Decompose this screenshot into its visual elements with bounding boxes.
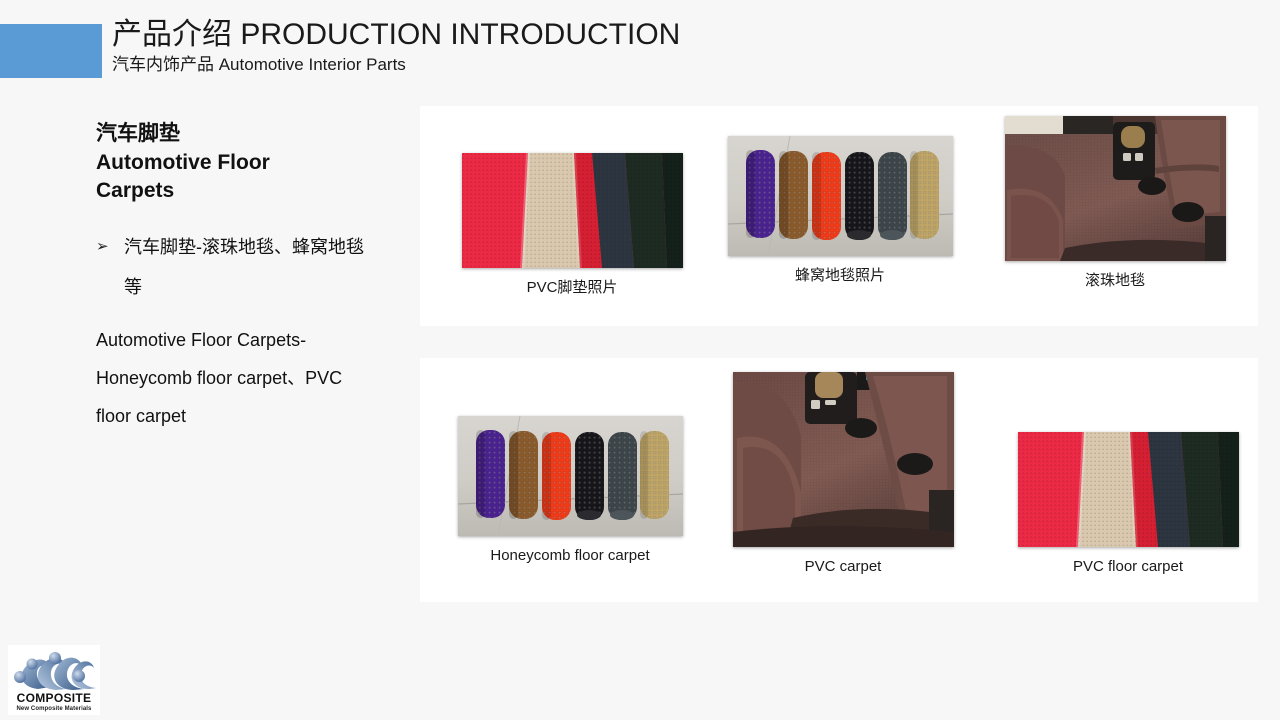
gallery-item[interactable]: PVC carpet [712, 372, 974, 577]
bullet-list-item: ➢ 汽车脚垫-滚珠地毯、蜂窝地毯等 [96, 227, 396, 307]
gallery-item[interactable]: 滚珠地毯 [985, 116, 1245, 291]
page-subtitle: 汽车内饰产品 Automotive Interior Parts [112, 54, 680, 76]
logo-company-name: COMPOSITE [8, 692, 100, 705]
logo-tagline: New Composite Materials [8, 705, 100, 713]
product-photo-honeycomb-rolls-2[interactable] [458, 416, 683, 536]
gallery-item-caption: PVC carpet [712, 557, 974, 577]
page-title: 产品介绍 PRODUCTION INTRODUCTION [112, 16, 680, 54]
gallery-item-caption: Honeycomb floor carpet [438, 546, 702, 566]
slide-header: 产品介绍 PRODUCTION INTRODUCTION 汽车内饰产品 Auto… [0, 0, 1280, 88]
left-text-column: 汽车脚垫 Automotive Floor Carpets ➢ 汽车脚垫-滚珠地… [96, 120, 396, 435]
product-photo-car-interior-pvc-carpet[interactable] [733, 372, 954, 547]
gallery-item-caption: 滚珠地毯 [985, 271, 1245, 291]
arrow-bullet-icon: ➢ [96, 227, 124, 267]
section-heading-english: Automotive Floor Carpets [96, 149, 326, 205]
gallery-item-caption: PVC脚垫照片 [442, 278, 702, 298]
product-photo-pvc-sheets[interactable] [462, 153, 683, 268]
body-paragraph: Automotive Floor Carpets-Honeycomb floor… [96, 321, 376, 435]
section-heading-chinese: 汽车脚垫 [96, 120, 396, 148]
header-accent-bar [0, 24, 102, 78]
gallery-item[interactable]: PVC脚垫照片 [442, 153, 702, 298]
bullet-item-label: 汽车脚垫-滚珠地毯、蜂窝地毯等 [124, 227, 364, 307]
company-logo: COMPOSITE New Composite Materials [8, 645, 100, 715]
gallery-item-caption: 蜂窝地毯照片 [710, 266, 970, 286]
gallery-item[interactable]: Honeycomb floor carpet [438, 416, 702, 566]
gallery-panel-row-2: Honeycomb floor carpet [420, 358, 1258, 602]
gallery-item[interactable]: PVC floor carpet [998, 432, 1258, 577]
product-photo-car-interior-ball-carpet[interactable] [1005, 116, 1226, 261]
gallery-item-caption: PVC floor carpet [998, 557, 1258, 577]
product-photo-pvc-sheets-2[interactable] [1018, 432, 1239, 547]
composite-swirl-icon [8, 645, 100, 695]
gallery-panel-row-1: PVC脚垫照片 [420, 106, 1258, 326]
header-text-group: 产品介绍 PRODUCTION INTRODUCTION 汽车内饰产品 Auto… [112, 16, 680, 76]
gallery-item[interactable]: 蜂窝地毯照片 [710, 136, 970, 286]
product-photo-honeycomb-rolls[interactable] [728, 136, 953, 256]
